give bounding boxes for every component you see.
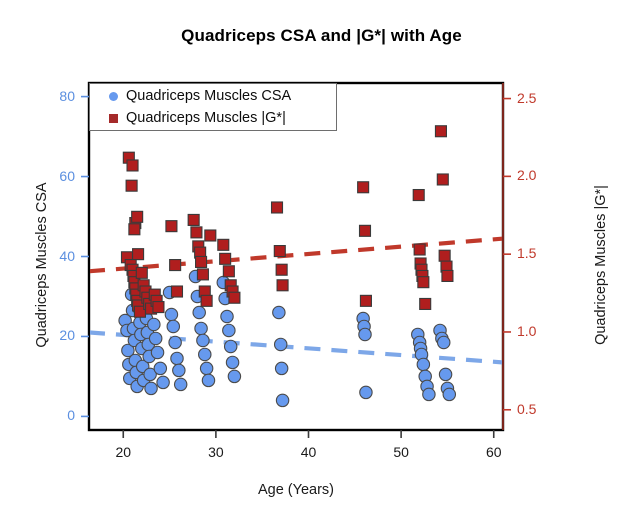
data-point-csa — [417, 358, 429, 370]
data-layer — [89, 126, 503, 407]
data-point-gstar — [205, 230, 216, 241]
x-tick-label: 60 — [474, 444, 514, 460]
data-point-gstar — [196, 256, 207, 267]
data-point-csa — [151, 346, 163, 358]
y-tick-label-left: 20 — [41, 327, 75, 343]
data-point-csa — [195, 322, 207, 334]
y-tick-label-left: 40 — [41, 248, 75, 264]
y-tick-label-right: 1.0 — [517, 323, 557, 339]
data-point-gstar — [218, 239, 229, 250]
x-tick-label: 20 — [103, 444, 143, 460]
data-point-csa — [171, 352, 183, 364]
y-tick-label-left: 0 — [41, 407, 75, 423]
data-point-csa — [154, 362, 166, 374]
data-point-gstar — [220, 253, 231, 264]
legend-item-csa: Quadriceps Muscles CSA — [100, 85, 291, 107]
data-points — [119, 126, 456, 407]
y-tick-label-right: 0.5 — [517, 401, 557, 417]
data-point-gstar — [360, 225, 371, 236]
data-point-csa — [148, 318, 160, 330]
data-point-csa — [174, 378, 186, 390]
data-point-gstar — [276, 264, 287, 275]
data-point-gstar — [166, 221, 177, 232]
data-point-csa — [228, 370, 240, 382]
data-point-gstar — [201, 295, 212, 306]
data-point-gstar — [127, 160, 138, 171]
data-point-gstar — [188, 214, 199, 225]
data-point-gstar — [414, 244, 425, 255]
data-point-csa — [223, 324, 235, 336]
data-point-csa — [275, 362, 287, 374]
data-point-csa — [360, 386, 372, 398]
data-point-csa — [273, 306, 285, 318]
y-axis-right-title: Quadriceps Muscles |G*| — [593, 135, 609, 395]
data-point-gstar — [358, 182, 369, 193]
data-point-csa — [149, 332, 161, 344]
data-point-csa — [443, 388, 455, 400]
x-tick-label: 40 — [289, 444, 329, 460]
data-point-csa — [200, 362, 212, 374]
legend: Quadriceps Muscles CSA Quadriceps Muscle… — [89, 83, 337, 131]
data-point-gstar — [132, 211, 143, 222]
data-point-gstar — [437, 174, 448, 185]
y-tick-label-left: 60 — [41, 168, 75, 184]
data-point-gstar — [197, 269, 208, 280]
data-point-csa — [157, 376, 169, 388]
data-point-gstar — [360, 295, 371, 306]
data-point-gstar — [272, 202, 283, 213]
y-tick-label-right: 1.5 — [517, 245, 557, 261]
data-point-csa — [165, 308, 177, 320]
data-point-gstar — [229, 292, 240, 303]
data-point-gstar — [153, 302, 164, 313]
data-point-csa — [193, 306, 205, 318]
data-point-csa — [438, 336, 450, 348]
data-point-gstar — [413, 190, 424, 201]
data-point-gstar — [442, 270, 453, 281]
data-point-csa — [202, 374, 214, 386]
data-point-csa — [169, 336, 181, 348]
legend-circle-marker-icon — [100, 92, 126, 101]
data-point-csa — [221, 310, 233, 322]
chart-figure: Quadriceps CSA and |G*| with Age Quadric… — [0, 0, 643, 532]
data-point-gstar — [435, 126, 446, 137]
data-point-gstar — [171, 286, 182, 297]
data-point-gstar — [439, 250, 450, 261]
data-point-gstar — [277, 280, 288, 291]
legend-label-csa: Quadriceps Muscles CSA — [126, 88, 291, 104]
data-point-csa — [197, 334, 209, 346]
data-point-csa — [225, 340, 237, 352]
data-point-gstar — [133, 249, 144, 260]
legend-square-marker-icon — [100, 114, 126, 123]
data-point-csa — [359, 328, 371, 340]
data-point-csa — [167, 320, 179, 332]
data-point-gstar — [420, 298, 431, 309]
data-point-gstar — [191, 227, 202, 238]
series-gstar-markers — [121, 126, 452, 318]
data-point-csa — [423, 388, 435, 400]
data-point-gstar — [129, 224, 140, 235]
data-point-gstar — [223, 266, 234, 277]
legend-label-gstar: Quadriceps Muscles |G*| — [126, 110, 286, 126]
x-tick-label: 50 — [381, 444, 421, 460]
data-point-csa — [145, 382, 157, 394]
data-point-csa — [439, 368, 451, 380]
data-point-gstar — [126, 180, 137, 191]
x-tick-label: 30 — [196, 444, 236, 460]
data-point-gstar — [274, 246, 285, 257]
data-point-csa — [199, 348, 211, 360]
data-point-gstar — [136, 267, 147, 278]
data-point-gstar — [418, 277, 429, 288]
x-axis-title: Age (Years) — [89, 482, 503, 498]
data-point-csa — [226, 356, 238, 368]
y-tick-label-left: 80 — [41, 88, 75, 104]
y-tick-label-right: 2.5 — [517, 90, 557, 106]
data-point-csa — [275, 338, 287, 350]
legend-item-gstar: Quadriceps Muscles |G*| — [100, 107, 286, 129]
data-point-gstar — [170, 260, 181, 271]
data-point-csa — [173, 364, 185, 376]
data-point-csa — [276, 394, 288, 406]
y-tick-label-right: 2.0 — [517, 167, 557, 183]
